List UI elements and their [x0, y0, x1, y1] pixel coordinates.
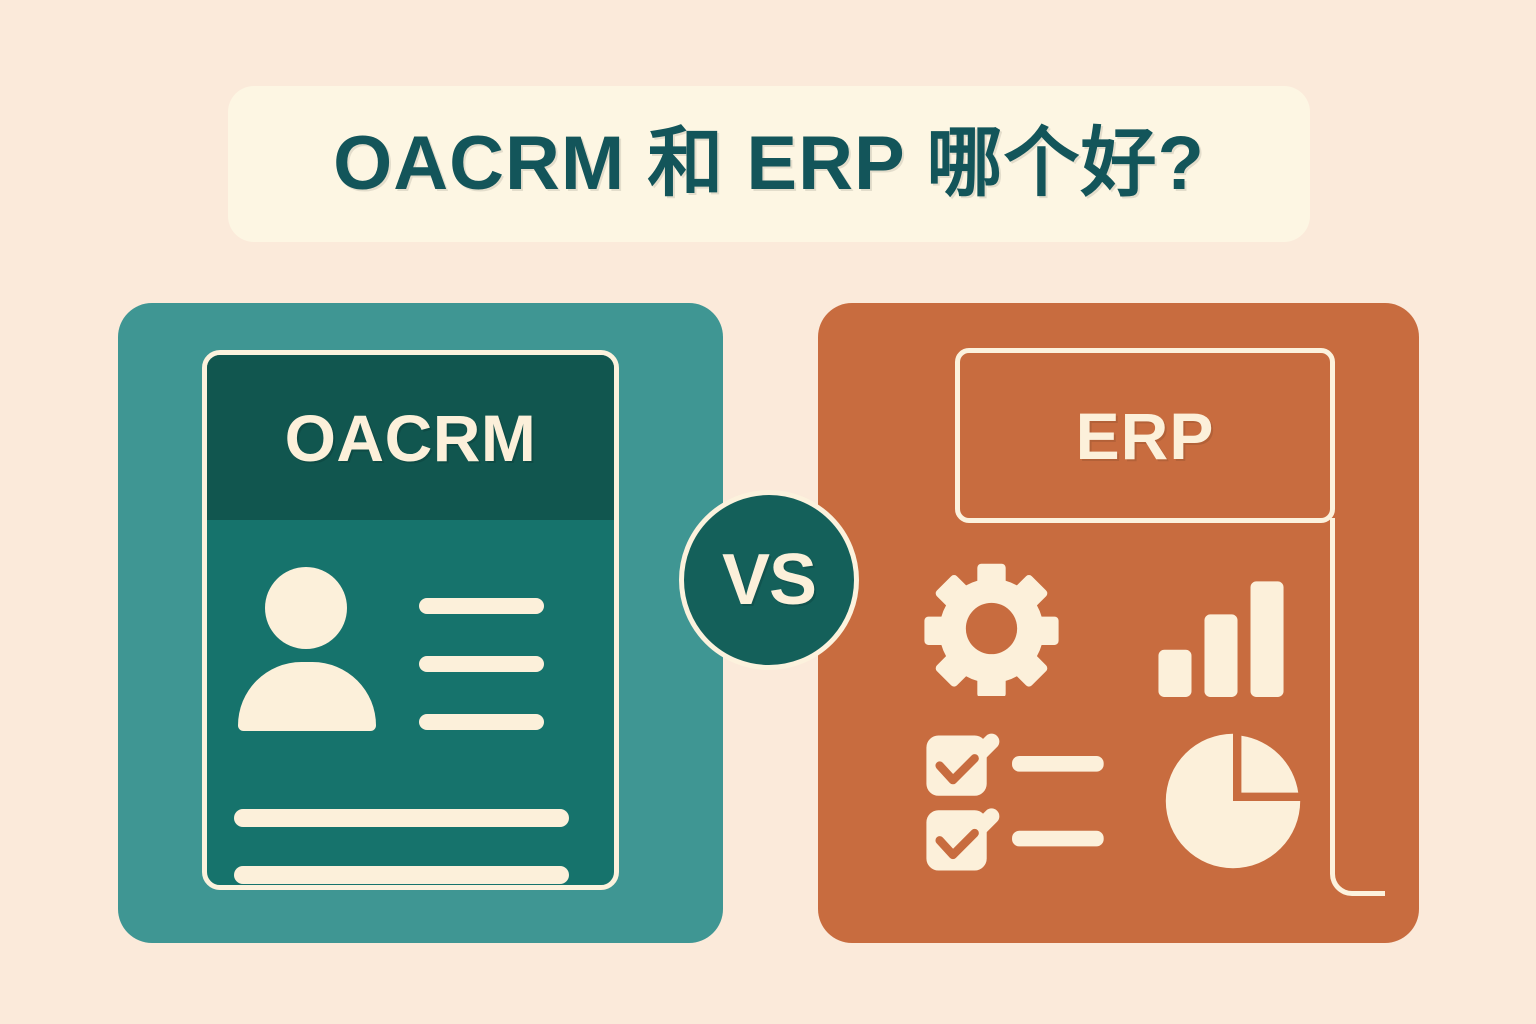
checklist-icon — [924, 733, 1129, 873]
bar-chart-icon — [1155, 579, 1287, 697]
text-line — [419, 656, 544, 672]
person-avatar-body-icon — [238, 662, 376, 731]
oacrm-card[interactable]: OACRM — [118, 303, 723, 943]
text-line — [234, 809, 569, 827]
text-line — [419, 714, 544, 730]
title-banner: OACRM 和 ERP 哪个好? — [228, 86, 1310, 242]
erp-label: ERP — [1076, 403, 1215, 469]
page-title: OACRM 和 ERP 哪个好? — [333, 126, 1205, 202]
text-line — [234, 866, 569, 884]
versus-badge: VS — [679, 490, 859, 670]
person-avatar-icon — [265, 567, 347, 649]
erp-frame-spine — [1330, 518, 1385, 896]
erp-title-box: ERP — [955, 348, 1335, 523]
poster-canvas: OACRM 和 ERP 哪个好? OACRM ERP — [0, 0, 1536, 1024]
text-line — [419, 598, 544, 614]
oacrm-panel-header: OACRM — [207, 355, 614, 520]
erp-card[interactable]: ERP — [818, 303, 1419, 943]
versus-label: VS — [722, 544, 816, 616]
oacrm-document-panel: OACRM — [202, 350, 619, 890]
oacrm-label: OACRM — [285, 405, 537, 471]
gear-icon — [924, 561, 1059, 696]
pie-chart-icon — [1163, 731, 1303, 871]
